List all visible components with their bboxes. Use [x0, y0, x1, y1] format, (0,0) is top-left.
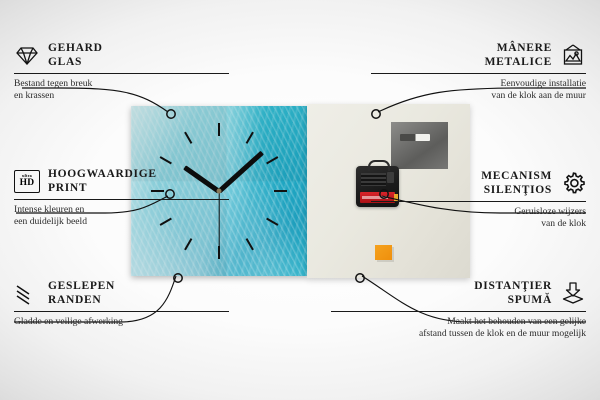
- clock-tick: [160, 156, 172, 164]
- spacer-down-arrow-icon: [560, 282, 586, 306]
- feature-divider: [14, 73, 229, 74]
- clock-hub: [217, 189, 222, 194]
- feature-description: Bestand tegen breuk en krassen: [14, 78, 229, 101]
- feature-title: GEHARD GLAS: [48, 42, 103, 69]
- feature-description: Geruisloze wijzers van de klok: [371, 206, 586, 229]
- clock-tick: [266, 156, 278, 164]
- diamond-icon: [14, 44, 40, 68]
- wall-mount-picture-icon: [560, 44, 586, 68]
- feature-divider: [14, 199, 229, 200]
- clock-tick: [218, 246, 220, 259]
- feature-foam-spacer: DISTANŢIER SPUMĂ Maakt het behouden van …: [331, 280, 586, 339]
- clock-tick: [218, 123, 220, 136]
- feature-title: HOOGWAARDIGE PRINT: [48, 168, 157, 195]
- clock-tick: [184, 132, 192, 144]
- metal-hanger-plate: [391, 122, 448, 169]
- feature-description: Gladde en veilige afwerking: [14, 316, 229, 328]
- ground-edges-icon: [14, 282, 40, 306]
- feature-description: Intense kleuren en een duidelijk beeld: [14, 204, 229, 227]
- feature-title: MECANISM SILENŢIOS: [481, 170, 552, 197]
- foam-spacer: [375, 245, 392, 260]
- feature-divider: [331, 311, 586, 312]
- clock-tick: [246, 132, 254, 144]
- feature-divider: [371, 73, 586, 74]
- hanger-slot: [400, 134, 430, 141]
- feature-divider: [371, 201, 586, 202]
- feature-metal-handles: MÂNERE METALICE Eenvoudige installatie v…: [371, 42, 586, 101]
- ultra-hd-icon: ultra HD: [14, 170, 40, 194]
- infographic-canvas: GEHARD GLAS Bestand tegen breuk en krass…: [0, 0, 600, 400]
- gear-icon: [560, 172, 586, 196]
- clock-tick: [246, 238, 254, 250]
- clock-tick: [266, 218, 278, 226]
- feature-silent-mechanism: MECANISM SILENŢIOS Geruisloze wijzers va…: [371, 170, 586, 229]
- feature-ground-edges: GESLEPEN RANDEN Gladde en veilige afwerk…: [14, 280, 229, 328]
- feature-description: Eenvoudige installatie van de klok aan d…: [371, 78, 586, 101]
- feature-title: GESLEPEN RANDEN: [48, 280, 115, 307]
- feature-description: Maakt het behouden van een gelijke afsta…: [331, 316, 586, 339]
- clock-tick: [274, 190, 287, 192]
- feature-title: DISTANŢIER SPUMĂ: [474, 280, 552, 307]
- clock-tick: [184, 238, 192, 250]
- feature-tempered-glass: GEHARD GLAS Bestand tegen breuk en krass…: [14, 42, 229, 101]
- feature-title: MÂNERE METALICE: [485, 42, 552, 69]
- feature-high-quality-print: ultra HD HOOGWAARDIGE PRINT Intense kleu…: [14, 168, 229, 227]
- feature-divider: [14, 311, 229, 312]
